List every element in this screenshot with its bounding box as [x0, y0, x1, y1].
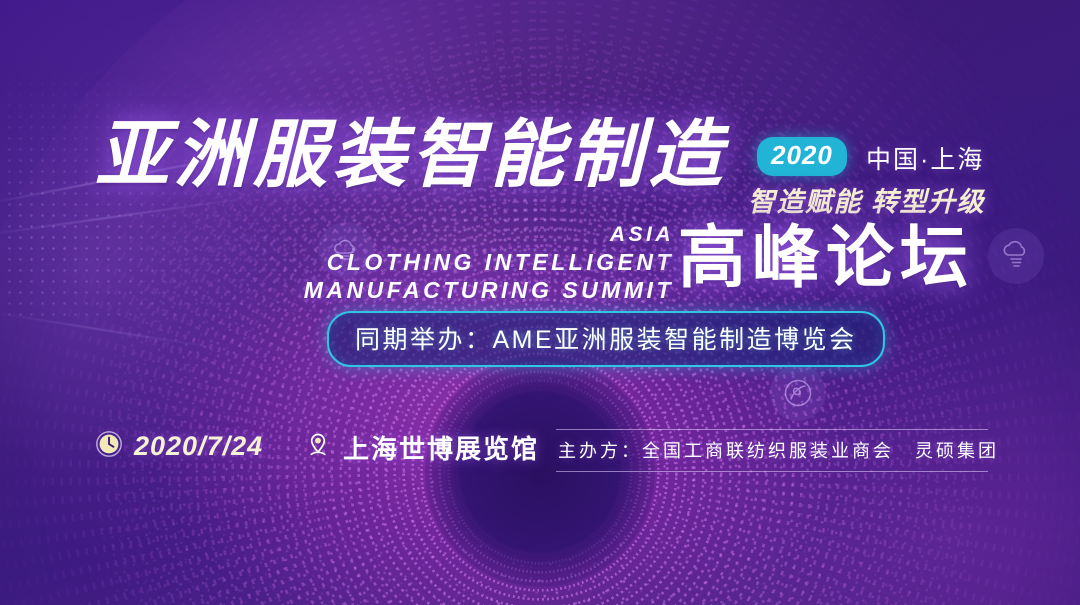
event-venue-block: 上海世博展览馆 — [303, 429, 539, 466]
co-event-pill: 同期举办：AME亚洲服装智能制造博览会 — [327, 311, 885, 367]
event-date: 2020/7/24 — [134, 431, 263, 462]
host-organizations: 主办方：全国工商联纺织服装业商会 灵硕集团 — [558, 437, 986, 463]
slogan-label: 智造赋能 转型升级 — [748, 180, 985, 219]
event-promo-banner: 亚洲服装智能制造 2020 中国·上海 智造赋能 转型升级 ASIA CLOTH… — [0, 0, 1080, 605]
english-line-1: ASIA — [304, 222, 674, 248]
year-badge: 2020 — [757, 137, 847, 176]
event-date-block: 2020/7/24 — [94, 429, 263, 464]
event-venue: 上海世博展览馆 — [343, 429, 539, 466]
location-pin-icon — [303, 430, 333, 465]
page-subtitle: 高峰论坛 — [678, 224, 974, 292]
english-line-2: CLOTHING INTELLIGENT — [304, 248, 674, 276]
host-block: 主办方：全国工商联纺织服装业商会 灵硕集团 — [556, 429, 988, 472]
english-line-3: MANUFACTURING SUMMIT — [304, 276, 674, 304]
page-title: 亚洲服装智能制造 — [95, 118, 727, 192]
city-label: 中国·上海 — [866, 140, 984, 176]
english-subtitle: ASIA CLOTHING INTELLIGENT MANUFACTURING … — [304, 222, 674, 304]
clock-icon — [94, 429, 124, 464]
